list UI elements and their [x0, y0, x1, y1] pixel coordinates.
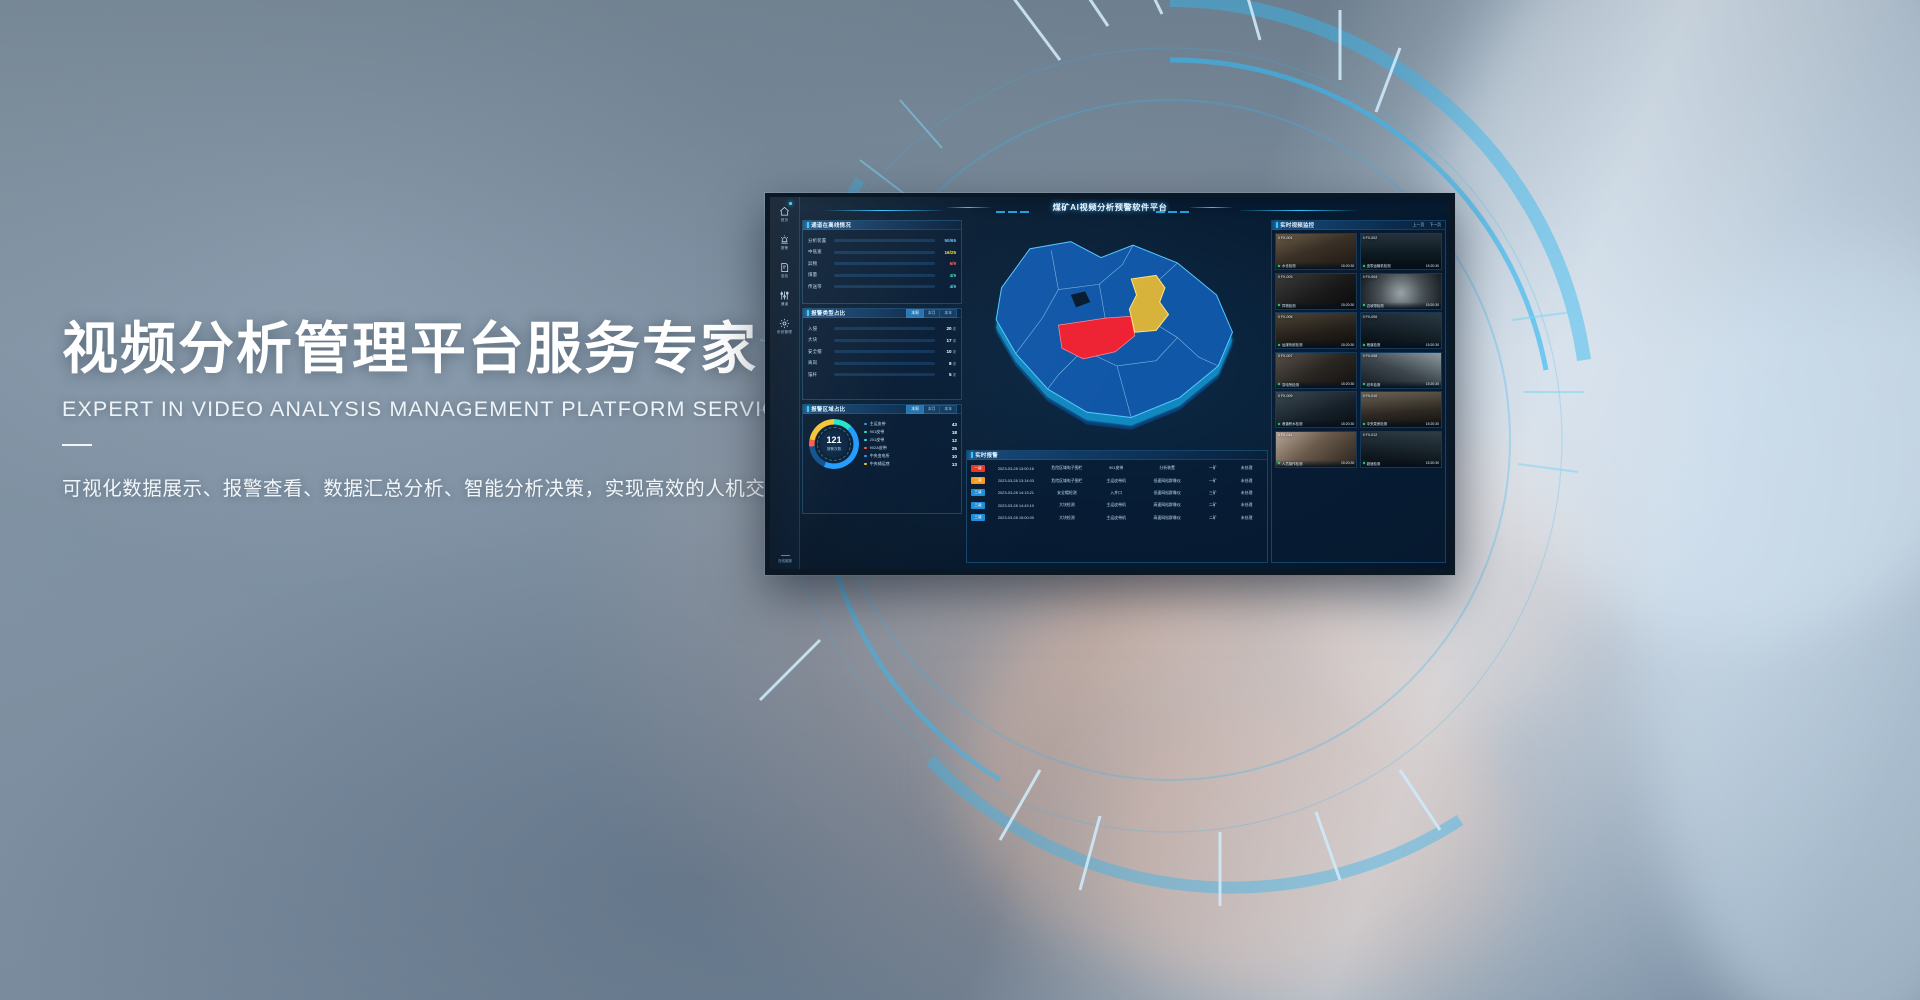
sidebar-item-channel[interactable]: 通道 — [770, 290, 799, 307]
status-badge: 三级 — [971, 502, 985, 509]
progress-track — [834, 274, 935, 277]
legend-value: 13 — [947, 462, 957, 467]
status-cell: 未处理 — [1230, 465, 1263, 471]
status-cell: 未处理 — [1230, 515, 1263, 521]
channel-label: 异物 — [808, 261, 834, 267]
camera-id: 0 FX-011 — [1278, 433, 1292, 437]
status-cell: 未处理 — [1230, 502, 1263, 508]
period-tab[interactable]: 本周 — [906, 405, 924, 414]
camera-label: 巷道检测 — [1367, 342, 1381, 347]
time-cell: 2023-03-28 14:43:10 — [992, 503, 1040, 508]
video-footer: 水仓检测 15:20:30 — [1276, 262, 1356, 269]
severity-cell: 三级 — [971, 502, 992, 509]
sidebar-bottom-label: 在线客服 — [770, 558, 800, 563]
table-row[interactable]: 二级 2023-03-28 13:14:03 危险区域电子围栏 主运皮带机 低速… — [971, 474, 1263, 486]
camera-label: 人员操作检测 — [1282, 461, 1302, 466]
legend-item: 901皮带 18 — [864, 428, 957, 436]
legend-label: 201皮带 — [870, 437, 947, 443]
channel-cell: 主运皮带机 — [1094, 478, 1139, 484]
donut-value: 121 — [826, 436, 841, 445]
type-cell: 安全帽检测 — [1040, 490, 1094, 496]
video-pagination: 上一页 下一页 — [1413, 222, 1441, 228]
channel-label: 煤量 — [808, 272, 834, 278]
region-map[interactable] — [966, 220, 1268, 448]
sidebar-item-system[interactable]: 系统管理 — [770, 318, 799, 335]
legend-dot — [864, 431, 867, 434]
camera-label: 异物检测 — [1282, 303, 1296, 308]
video-tile[interactable]: 0 FX-002 皮带运输机检测 15:20:30 — [1360, 233, 1442, 270]
alarm-type-value: 10次 — [939, 349, 956, 354]
device-cell: 分析装置 — [1139, 465, 1196, 471]
status-badge: 三级 — [971, 514, 985, 521]
table-row[interactable]: 三级 2023-03-28 14:43:10 大块检测 主运皮带机 高速网松群像… — [971, 499, 1263, 511]
camera-time: 15:20:30 — [1426, 422, 1439, 426]
dashboard-header: 煤矿AI视频分析预警软件平台 — [770, 197, 1450, 219]
camera-time: 15:20:30 — [1341, 422, 1354, 426]
header-mark — [971, 452, 973, 458]
video-footer: 巷道检测 15:20:30 — [1361, 341, 1441, 348]
camera-id: 0 FX-005 — [1278, 315, 1292, 319]
legend-value: 10 — [947, 454, 957, 459]
divider — [781, 555, 790, 556]
channel-value: 16/25 — [939, 250, 956, 255]
progress-track — [834, 339, 935, 342]
device-cell: 低速网松群像仪 — [1139, 478, 1196, 484]
monitor-frame: 煤矿AI视频分析预警软件平台 首页 报警 巡检 — [765, 193, 1455, 575]
alarm-icon — [779, 234, 790, 245]
sidebar: 首页 报警 巡检 通道 — [770, 197, 800, 569]
background-shape — [1100, 700, 1520, 1000]
camera-time: 15:20:30 — [1341, 343, 1354, 347]
status-dot — [1278, 383, 1280, 385]
camera-time: 15:20:30 — [1341, 382, 1354, 386]
progress-track — [834, 262, 935, 265]
legend-item: 201皮带 12 — [864, 436, 957, 444]
video-footer: 超速检测 15:20:30 — [1361, 460, 1441, 467]
camera-time: 15:20:30 — [1426, 264, 1439, 268]
legend-label: 主运皮带 — [870, 421, 947, 427]
background-shape — [1430, 0, 1920, 640]
panel-realtime-alarm: 实时报警 一级 2023-03-28 13:00:16 危险区域电子围栏 901… — [966, 450, 1268, 563]
progress-track — [834, 251, 935, 254]
time-cell: 2023-03-28 13:14:03 — [992, 478, 1040, 483]
sidebar-label: 巡检 — [781, 274, 789, 279]
panel-video-monitor: 实时视频监控 上一页 下一页 0 FX-001 水仓检测 15:20:30 0 … — [1271, 220, 1446, 563]
alarm-table: 一级 2023-03-28 13:00:16 危险区域电子围栏 901皮带 分析… — [967, 460, 1267, 524]
period-tabs[interactable]: 本周本月本年 — [906, 405, 957, 414]
video-footer: 人员操作检测 15:20:30 — [1276, 460, 1356, 467]
right-column: 实时视频监控 上一页 下一页 0 FX-001 水仓检测 15:20:30 0 … — [1271, 220, 1446, 563]
legend-item: 中央辅运巷 13 — [864, 460, 957, 468]
severity-cell: 三级 — [971, 514, 992, 521]
legend-label: 901皮带 — [870, 429, 947, 435]
donut-center: 121 报警次数 — [820, 430, 848, 458]
progress-track — [834, 327, 935, 330]
channel-row: 异物 6/9 — [808, 258, 956, 270]
status-dot — [1278, 423, 1280, 425]
left-column: 通道在离线情况 分析装置 50/65 中低速 16/25 异物 6/9 煤量 4… — [802, 220, 962, 563]
video-footer: 异物检测 15:20:30 — [1276, 302, 1356, 309]
camera-time: 15:20:30 — [1341, 264, 1354, 268]
table-row[interactable]: 三级 2023-03-28 14:13:21 安全帽检测 入井口 低速网松群像仪… — [971, 487, 1263, 499]
device-cell: 高速网松群像仪 — [1139, 515, 1196, 521]
camera-label: 水仓检测 — [1282, 263, 1296, 268]
legend-dot — [864, 463, 867, 466]
video-tile[interactable]: 0 FX-012 超速检测 15:20:30 — [1360, 431, 1442, 468]
panel-header: 通道在离线情况 — [803, 221, 961, 230]
alarm-type-row: 入侵 20次 — [808, 323, 956, 335]
video-footer: 变电所检测 15:20:30 — [1276, 381, 1356, 388]
channel-cell: 主运皮带机 — [1094, 502, 1139, 508]
time-cell: 2023-03-28 15:00:00 — [992, 515, 1040, 520]
mine-cell: 一矿 — [1196, 478, 1231, 484]
video-tile[interactable]: 0 FX-001 水仓检测 15:20:30 — [1275, 233, 1357, 270]
channel-label: 传送带 — [808, 284, 834, 290]
mine-cell: 三矿 — [1196, 490, 1231, 496]
type-cell: 大块检测 — [1040, 515, 1094, 521]
severity-cell: 三级 — [971, 489, 992, 496]
status-dot — [1363, 462, 1365, 464]
status-badge: 三级 — [971, 489, 985, 496]
platform-title: 煤矿AI视频分析预警软件平台 — [770, 201, 1450, 213]
channel-row: 分析装置 50/65 — [808, 235, 956, 247]
hero-copy: 视频分析管理平台服务专家 EXPERT IN VIDEO ANALYSIS MA… — [62, 318, 822, 501]
camera-time: 15:20:30 — [1341, 461, 1354, 465]
camera-label: 巷道积水检测 — [1282, 421, 1302, 426]
alarm-type-value: 20次 — [939, 326, 956, 331]
video-footer: 运煤系统检测 15:20:30 — [1276, 341, 1356, 348]
status-dot — [1278, 265, 1280, 267]
legend-item: 902A皮带 25 — [864, 444, 957, 452]
legend-value: 43 — [947, 422, 957, 427]
header-mark — [807, 222, 809, 228]
camera-id: 0 FX-006 — [1363, 315, 1377, 319]
channel-value: 4/9 — [939, 284, 956, 289]
header-mark — [1276, 222, 1278, 228]
next-page-button[interactable]: 下一页 — [1429, 222, 1441, 228]
channel-label: 中低速 — [808, 249, 834, 255]
status-badge: 一级 — [971, 465, 985, 472]
channel-row: 传送带 4/9 — [808, 281, 956, 293]
channel-value: 4/9 — [939, 273, 956, 278]
alarm-type-label: 入侵 — [808, 326, 834, 332]
video-tile[interactable]: 0 FX-011 人员操作检测 15:20:30 — [1275, 431, 1357, 468]
table-row[interactable]: 一级 2023-03-28 13:00:16 危险区域电子围栏 901皮带 分析… — [971, 462, 1263, 474]
divider — [62, 444, 92, 446]
status-dot — [1363, 344, 1365, 346]
alarm-type-row: 锚杆 5次 — [808, 369, 956, 381]
panel-title: 通道在离线情况 — [811, 221, 851, 229]
period-tab[interactable]: 本周 — [906, 309, 924, 318]
donut-chart-section: 121 报警次数 主运皮带 43 901皮带 18 201皮带 12 902A皮… — [803, 414, 961, 469]
panel-header: 报警类型占比 本周本月本年 — [803, 309, 961, 318]
channel-cell: 入井口 — [1094, 490, 1139, 496]
sidebar-label: 首页 — [781, 218, 789, 223]
legend-label: 902A皮带 — [870, 445, 947, 451]
period-tab[interactable]: 本年 — [940, 405, 957, 414]
mine-cell: 二矿 — [1196, 515, 1231, 521]
donut-chart: 121 报警次数 — [809, 419, 859, 469]
video-footer: 中央泵房检测 15:20:30 — [1361, 420, 1441, 427]
panel-title: 实时视频监控 — [1280, 221, 1314, 229]
panel-alarm-area: 报警区域占比 本周本月本年 121 报警次数 主运皮带 43 901皮带 — [802, 404, 962, 514]
table-row[interactable]: 三级 2023-03-28 15:00:00 大块检测 主运皮带机 高速网松群像… — [971, 512, 1263, 524]
progress-track — [834, 373, 935, 376]
camera-label: 边坡带检测 — [1367, 303, 1384, 308]
camera-id: 0 FX-001 — [1278, 236, 1292, 240]
gear-icon — [779, 318, 790, 329]
status-dot — [1278, 462, 1280, 464]
time-cell: 2023-03-28 13:00:16 — [992, 466, 1040, 471]
camera-time: 15:20:30 — [1341, 303, 1354, 307]
video-tile[interactable]: 0 FX-005 运煤系统检测 15:20:30 — [1275, 312, 1357, 349]
video-footer: 巷道积水检测 15:20:30 — [1276, 420, 1356, 427]
alarm-type-label: 安全帽 — [808, 349, 834, 355]
status-dot — [1278, 304, 1280, 306]
panel-title: 报警区域占比 — [811, 405, 845, 413]
panel-alarm-type: 报警类型占比 本周本月本年 入侵 20次 大块 17次 安全帽 10次 离岗 8… — [802, 308, 962, 400]
camera-label: 运煤系统检测 — [1282, 342, 1302, 347]
status-cell: 未处理 — [1230, 490, 1263, 496]
channel-icon — [779, 290, 790, 301]
camera-time: 15:20:30 — [1426, 303, 1439, 307]
camera-label: 中央泵房检测 — [1367, 421, 1387, 426]
channel-value: 50/65 — [939, 238, 956, 243]
progress-track — [834, 285, 935, 288]
video-footer: 绞车检测 15:20:30 — [1361, 381, 1441, 388]
video-tile[interactable]: 0 FX-009 巷道积水检测 15:20:30 — [1275, 391, 1357, 428]
video-tile[interactable]: 0 FX-007 变电所检测 15:20:30 — [1275, 352, 1357, 389]
camera-label: 绞车检测 — [1367, 382, 1381, 387]
video-footer: 边坡带检测 15:20:30 — [1361, 302, 1441, 309]
camera-id: 0 FX-012 — [1363, 433, 1377, 437]
camera-id: 0 FX-002 — [1363, 236, 1377, 240]
camera-label: 皮带运输机检测 — [1367, 263, 1391, 268]
legend-value: 18 — [947, 430, 957, 435]
legend-dot — [864, 439, 867, 442]
channel-label: 分析装置 — [808, 238, 834, 244]
channel-row: 煤量 4/9 — [808, 270, 956, 282]
video-tile[interactable]: 0 FX-006 巷道检测 15:20:30 — [1360, 312, 1442, 349]
header-mark — [807, 406, 809, 412]
period-tab[interactable]: 本月 — [924, 309, 941, 318]
legend-label: 中央变电所 — [870, 453, 947, 459]
sidebar-label: 系统管理 — [777, 330, 792, 335]
sidebar-label: 通道 — [781, 302, 789, 307]
progress-track — [834, 239, 935, 242]
mine-cell: 二矿 — [1196, 502, 1231, 508]
legend-dot — [864, 455, 867, 458]
severity-cell: 一级 — [971, 465, 992, 472]
sidebar-label: 报警 — [781, 246, 789, 251]
channel-value: 6/9 — [939, 261, 956, 266]
header-mark — [807, 310, 809, 316]
status-cell: 未处理 — [1230, 478, 1263, 484]
status-dot — [1363, 423, 1365, 425]
time-cell: 2023-03-28 14:13:21 — [992, 490, 1040, 495]
device-cell: 低速网松群像仪 — [1139, 490, 1196, 496]
video-tile[interactable]: 0 FX-008 绞车检测 15:20:30 — [1360, 352, 1442, 389]
camera-label: 超速检测 — [1367, 461, 1381, 466]
channel-cell: 主运皮带机 — [1094, 515, 1139, 521]
device-cell: 高速网松群像仪 — [1139, 502, 1196, 508]
sidebar-item-inspection[interactable]: 巡检 — [770, 262, 799, 279]
status-dot — [1278, 344, 1280, 346]
period-tabs[interactable]: 本周本月本年 — [906, 309, 957, 318]
camera-id: 0 FX-004 — [1363, 275, 1377, 279]
map-svg — [966, 220, 1268, 448]
sidebar-bottom[interactable]: 在线客服 — [770, 555, 800, 563]
legend-dot — [864, 447, 867, 450]
panel-channel-status: 通道在离线情况 分析装置 50/65 中低速 16/25 异物 6/9 煤量 4… — [802, 220, 962, 304]
camera-id: 0 FX-003 — [1278, 275, 1292, 279]
alarm-type-row: 离岗 8次 — [808, 358, 956, 370]
donut-legend: 主运皮带 43 901皮带 18 201皮带 12 902A皮带 25 中央变电… — [859, 420, 957, 468]
mine-cell: 一矿 — [1196, 465, 1231, 471]
period-tab[interactable]: 本年 — [940, 309, 957, 318]
background-shape — [1640, 240, 1920, 1000]
type-cell: 危险区域电子围栏 — [1040, 465, 1094, 471]
progress-track — [834, 350, 935, 353]
legend-value: 25 — [947, 446, 957, 451]
home-icon — [779, 206, 790, 217]
channel-rows: 分析装置 50/65 中低速 16/25 异物 6/9 煤量 4/9 传送带 4… — [803, 230, 961, 293]
channel-cell: 901皮带 — [1094, 465, 1139, 471]
status-dot — [1363, 383, 1365, 385]
alarm-type-rows: 入侵 20次 大块 17次 安全帽 10次 离岗 8次 锚杆 5次 — [803, 318, 961, 381]
video-grid: 0 FX-001 水仓检测 15:20:30 0 FX-002 皮带运输机检测 … — [1272, 230, 1445, 471]
legend-item: 中央变电所 10 — [864, 452, 957, 460]
panel-title: 实时报警 — [975, 451, 998, 459]
sidebar-item-home[interactable]: 首页 — [770, 206, 799, 223]
dashboard-screen: 煤矿AI视频分析预警软件平台 首页 报警 巡检 — [770, 197, 1450, 569]
type-cell: 大块检测 — [1040, 502, 1094, 508]
camera-id: 0 FX-008 — [1363, 354, 1377, 358]
status-dot — [1363, 304, 1365, 306]
page-title: 视频分析管理平台服务专家 — [62, 318, 822, 381]
severity-cell: 二级 — [971, 477, 992, 484]
panel-header: 实时视频监控 上一页 下一页 — [1272, 221, 1445, 230]
sidebar-indicator-dot — [789, 202, 792, 205]
inspection-icon — [779, 262, 790, 273]
camera-time: 15:20:30 — [1426, 382, 1439, 386]
legend-label: 中央辅运巷 — [870, 461, 947, 467]
hero-description: 可视化数据展示、报警查看、数据汇总分析、智能分析决策，实现高效的人机交互 — [62, 472, 822, 501]
status-dot — [1363, 265, 1365, 267]
alarm-type-value: 8次 — [939, 361, 956, 366]
alarm-type-row: 安全帽 10次 — [808, 346, 956, 358]
video-tile[interactable]: 0 FX-010 中央泵房检测 15:20:30 — [1360, 391, 1442, 428]
panel-title: 报警类型占比 — [811, 309, 845, 317]
video-footer: 皮带运输机检测 15:20:30 — [1361, 262, 1441, 269]
background-shape — [960, 560, 1480, 980]
panel-header: 实时报警 — [967, 451, 1267, 460]
legend-value: 12 — [947, 438, 957, 443]
alarm-type-label: 大块 — [808, 337, 834, 343]
period-tab[interactable]: 本月 — [924, 405, 941, 414]
donut-caption: 报警次数 — [827, 447, 841, 452]
progress-track — [834, 362, 935, 365]
panel-header: 报警区域占比 本周本月本年 — [803, 405, 961, 414]
prev-page-button[interactable]: 上一页 — [1413, 222, 1425, 228]
video-tile[interactable]: 0 FX-003 异物检测 15:20:30 — [1275, 273, 1357, 310]
type-cell: 危险区域电子围栏 — [1040, 478, 1094, 484]
camera-id: 0 FX-007 — [1278, 354, 1292, 358]
camera-time: 15:20:30 — [1426, 461, 1439, 465]
alarm-type-value: 17次 — [939, 338, 956, 343]
camera-label: 变电所检测 — [1282, 382, 1299, 387]
status-badge: 二级 — [971, 477, 985, 484]
sidebar-item-alarm[interactable]: 报警 — [770, 234, 799, 251]
video-tile[interactable]: 0 FX-004 边坡带检测 15:20:30 — [1360, 273, 1442, 310]
alarm-type-label: 离岗 — [808, 360, 834, 366]
camera-id: 0 FX-010 — [1363, 394, 1377, 398]
camera-id: 0 FX-009 — [1278, 394, 1292, 398]
alarm-type-value: 5次 — [939, 372, 956, 377]
channel-row: 中低速 16/25 — [808, 247, 956, 259]
legend-item: 主运皮带 43 — [864, 420, 957, 428]
camera-time: 15:20:30 — [1426, 343, 1439, 347]
alarm-type-row: 大块 17次 — [808, 335, 956, 347]
hero-subtitle: EXPERT IN VIDEO ANALYSIS MANAGEMENT PLAT… — [62, 397, 822, 422]
legend-dot — [864, 423, 867, 426]
alarm-type-label: 锚杆 — [808, 372, 834, 378]
